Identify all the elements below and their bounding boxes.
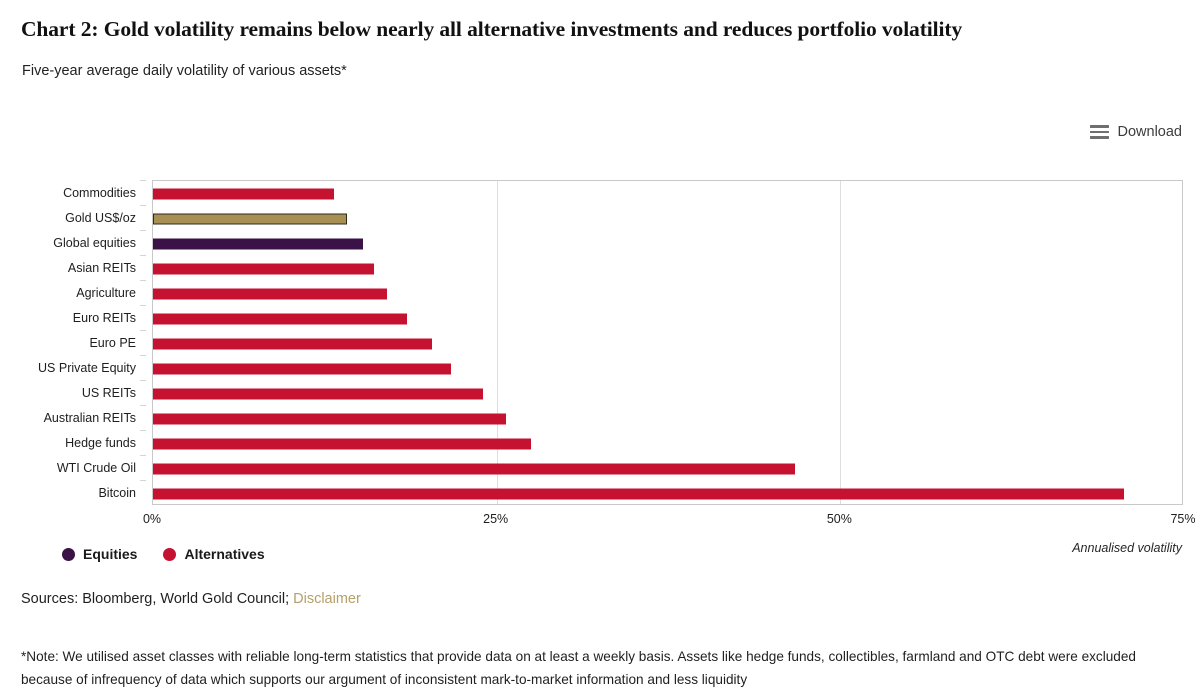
legend-swatch-alternatives — [163, 548, 176, 561]
gridline — [497, 181, 498, 504]
sources-text: Sources: Bloomberg, World Gold Council; — [21, 591, 289, 607]
bar-bitcoin[interactable] — [153, 488, 1124, 499]
legend-label-equities: Equities — [83, 546, 137, 562]
bar-us-private-equity[interactable] — [153, 363, 451, 374]
legend-label-alternatives: Alternatives — [184, 546, 264, 562]
download-label: Download — [1118, 124, 1183, 140]
y-axis-label-commodities: Commodities — [63, 186, 136, 200]
bar-euro-reits[interactable] — [153, 313, 407, 324]
bar-wti-crude-oil[interactable] — [153, 463, 795, 474]
y-axis-label-global-equities: Global equities — [53, 236, 136, 250]
y-axis-tick — [140, 255, 146, 256]
y-axis-label-agriculture: Agriculture — [76, 286, 136, 300]
bar-euro-pe[interactable] — [153, 338, 432, 349]
y-axis-label-gold-us-oz: Gold US$/oz — [65, 211, 136, 225]
x-axis-tick-75pct: 75% — [1170, 512, 1195, 526]
y-axis-label-bitcoin: Bitcoin — [98, 486, 136, 500]
page-title: Chart 2: Gold volatility remains below n… — [21, 17, 1181, 42]
y-axis-label-australian-reits: Australian REITs — [44, 411, 136, 425]
legend-item-equities[interactable]: Equities — [62, 546, 137, 562]
y-axis-tick — [140, 305, 146, 306]
y-axis-tick — [140, 180, 146, 181]
chart-subtitle: Five-year average daily volatility of va… — [22, 63, 347, 79]
y-axis-tick — [140, 480, 146, 481]
chart-plot-area — [152, 180, 1183, 505]
y-axis-tick — [140, 405, 146, 406]
bar-australian-reits[interactable] — [153, 413, 506, 424]
hamburger-icon — [1090, 125, 1109, 139]
legend-swatch-equities — [62, 548, 75, 561]
bar-agriculture[interactable] — [153, 288, 387, 299]
y-axis-tick — [140, 455, 146, 456]
download-button[interactable]: Download — [1090, 124, 1183, 140]
y-axis-tick — [140, 380, 146, 381]
y-axis-label-asian-reits: Asian REITs — [68, 261, 136, 275]
y-axis-tick — [140, 355, 146, 356]
bar-hedge-funds[interactable] — [153, 438, 531, 449]
sources-line: Sources: Bloomberg, World Gold Council; … — [21, 591, 361, 607]
x-axis-label: Annualised volatility — [1072, 541, 1182, 555]
y-axis-label-us-private-equity: US Private Equity — [38, 361, 136, 375]
bar-commodities[interactable] — [153, 188, 334, 199]
y-axis-label-wti-crude-oil: WTI Crude Oil — [57, 461, 136, 475]
y-axis-label-hedge-funds: Hedge funds — [65, 436, 136, 450]
y-axis-label-euro-pe: Euro PE — [89, 336, 136, 350]
bar-us-reits[interactable] — [153, 388, 483, 399]
bar-gold-us-oz[interactable] — [153, 213, 347, 224]
y-axis-label-us-reits: US REITs — [82, 386, 136, 400]
bar-global-equities[interactable] — [153, 238, 363, 249]
y-axis-label-euro-reits: Euro REITs — [73, 311, 136, 325]
disclaimer-link[interactable]: Disclaimer — [293, 591, 361, 607]
y-axis-tick — [140, 230, 146, 231]
legend-item-alternatives[interactable]: Alternatives — [163, 546, 264, 562]
footnote: *Note: We utilised asset classes with re… — [21, 645, 1183, 691]
y-axis-tick — [140, 205, 146, 206]
x-axis-tick-50pct: 50% — [827, 512, 852, 526]
x-axis-tick-0pct: 0% — [143, 512, 161, 526]
chart-legend: EquitiesAlternatives — [62, 546, 265, 562]
x-axis-tick-25pct: 25% — [483, 512, 508, 526]
y-axis-tick — [140, 280, 146, 281]
gridline — [840, 181, 841, 504]
y-axis-tick — [140, 330, 146, 331]
y-axis-tick — [140, 430, 146, 431]
y-axis-labels: CommoditiesGold US$/ozGlobal equitiesAsi… — [0, 180, 146, 505]
bar-asian-reits[interactable] — [153, 263, 374, 274]
